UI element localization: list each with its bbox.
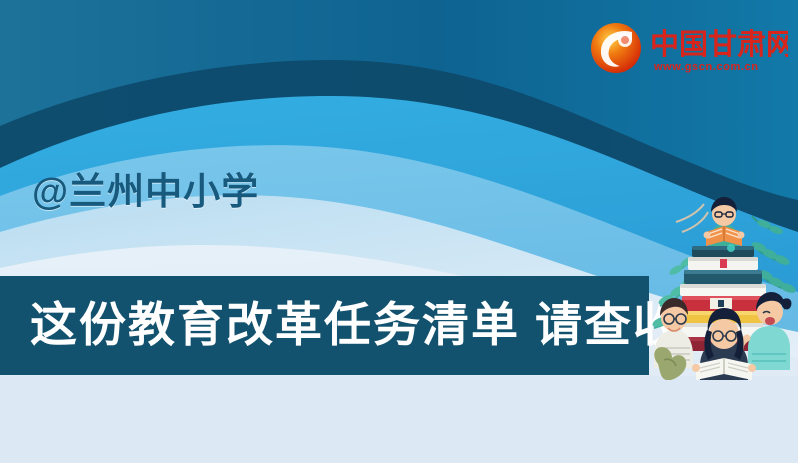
logo-url: www.gscn.com.cn xyxy=(653,61,759,73)
logo-wordmark: 中国甘肃网 xyxy=(650,27,788,61)
children-reading-illustration xyxy=(648,188,798,380)
kicker-text: @兰州中小学 xyxy=(32,173,259,210)
child-top-reading xyxy=(704,197,745,252)
site-logo[interactable]: 中国甘肃网 www.gscn.com.cn xyxy=(588,18,788,80)
headline-text: 这份教育改革任务清单 请查收 xyxy=(30,293,630,357)
illustration-artwork xyxy=(648,188,798,380)
logo-artwork: 中国甘肃网 www.gscn.com.cn xyxy=(588,18,788,80)
poster-root: 中国甘肃网 www.gscn.com.cn @兰州中小学 这份教育改革任务清单 … xyxy=(0,0,798,463)
